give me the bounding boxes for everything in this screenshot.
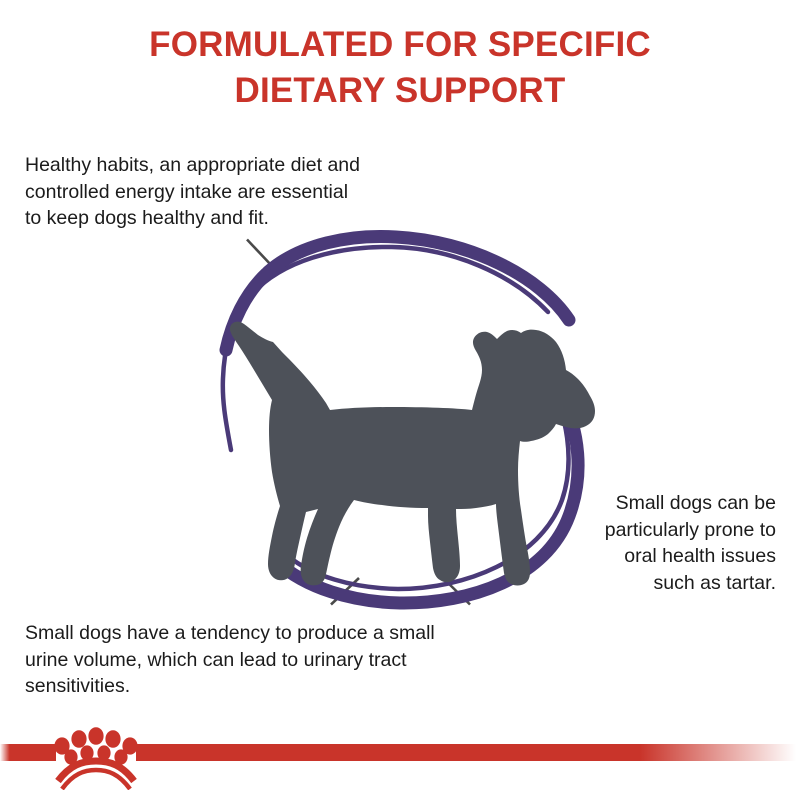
crown-dot-upper-3: [88, 727, 103, 745]
infographic-root: FORMULATED FOR SPECIFIC DIETARY SUPPORT: [0, 0, 800, 800]
callout-right: Small dogs can be particularly prone to …: [536, 490, 776, 596]
crown-dot-upper-2: [71, 730, 86, 748]
crown-dot-upper-4: [105, 730, 120, 748]
callout-bottom-left: Small dogs have a tendency to produce a …: [25, 620, 495, 700]
connector-line-top-left: [20, 240, 272, 267]
crown-arc-inner: [62, 770, 130, 789]
callout-top-left: Healthy habits, an appropriate diet and …: [25, 152, 425, 232]
royal-canin-crown-logo: [0, 726, 800, 800]
